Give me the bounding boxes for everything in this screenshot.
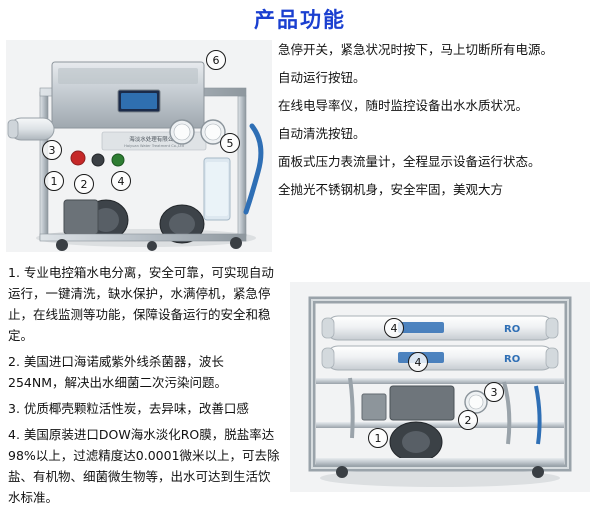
machine-front-photo: 海淡水处理有限公司 Haiyuan Water Treatment Co.,Lt… bbox=[6, 40, 272, 252]
svg-text:RO: RO bbox=[504, 354, 520, 365]
feature-item-4: 自动清洗按钮。 bbox=[278, 126, 594, 141]
machine-side-illustration: RO RO bbox=[290, 282, 590, 492]
feature-list: 急停开关，紧急状况时按下，马上切断所有电源。 自动运行按钮。 在线电导率仪，随时… bbox=[278, 42, 594, 210]
description-item-1: 1. 专业电控箱水电分离，安全可靠，可实现自动运行，一键清洗，缺水保护，水满停机… bbox=[8, 262, 280, 346]
callout-1: 1 bbox=[44, 171, 64, 191]
feature-item-5: 面板式压力表流量计，全程显示设备运行状态。 bbox=[278, 154, 594, 169]
feature-item-2: 自动运行按钮。 bbox=[278, 70, 594, 85]
svg-text:Haiyuan Water Treatment Co.,Lt: Haiyuan Water Treatment Co.,Ltd bbox=[124, 144, 184, 148]
callout-1: 1 bbox=[368, 428, 388, 448]
callout-5: 5 bbox=[220, 133, 240, 153]
callout-2: 2 bbox=[458, 410, 478, 430]
svg-text:RO: RO bbox=[504, 324, 520, 335]
description-item-3: 3. 优质椰壳颗粒活性炭，去异味，改善口感 bbox=[8, 398, 280, 419]
description-item-4: 4. 美国原装进口DOW海水淡化RO膜，脱盐率达98%以上，过滤精度达0.000… bbox=[8, 424, 280, 508]
callout-2: 2 bbox=[74, 174, 94, 194]
machine-side-photo: RO RO 4 4 3 2 1 bbox=[290, 282, 590, 492]
callout-4: 4 bbox=[111, 171, 131, 191]
description-item-2: 2. 美国进口海诺威紫外线杀菌器，波长254NM，解决出水细菌二次污染问题。 bbox=[8, 351, 280, 393]
callout-3: 3 bbox=[484, 382, 504, 402]
callout-4-upper: 4 bbox=[384, 318, 404, 338]
feature-item-1: 急停开关，紧急状况时按下，马上切断所有电源。 bbox=[278, 42, 594, 57]
description-list: 1. 专业电控箱水电分离，安全可靠，可实现自动运行，一键清洗，缺水保护，水满停机… bbox=[8, 262, 280, 513]
feature-item-3: 在线电导率仪，随时监控设备出水水质状况。 bbox=[278, 98, 594, 113]
feature-item-6: 全抛光不锈钢机身，安全牢固，美观大方 bbox=[278, 182, 594, 197]
callout-4-lower: 4 bbox=[408, 352, 428, 372]
callout-6: 6 bbox=[206, 50, 226, 70]
callout-3: 3 bbox=[42, 140, 62, 160]
page-title: 产品功能 bbox=[0, 4, 600, 34]
product-function-page: 产品功能 bbox=[0, 0, 600, 500]
